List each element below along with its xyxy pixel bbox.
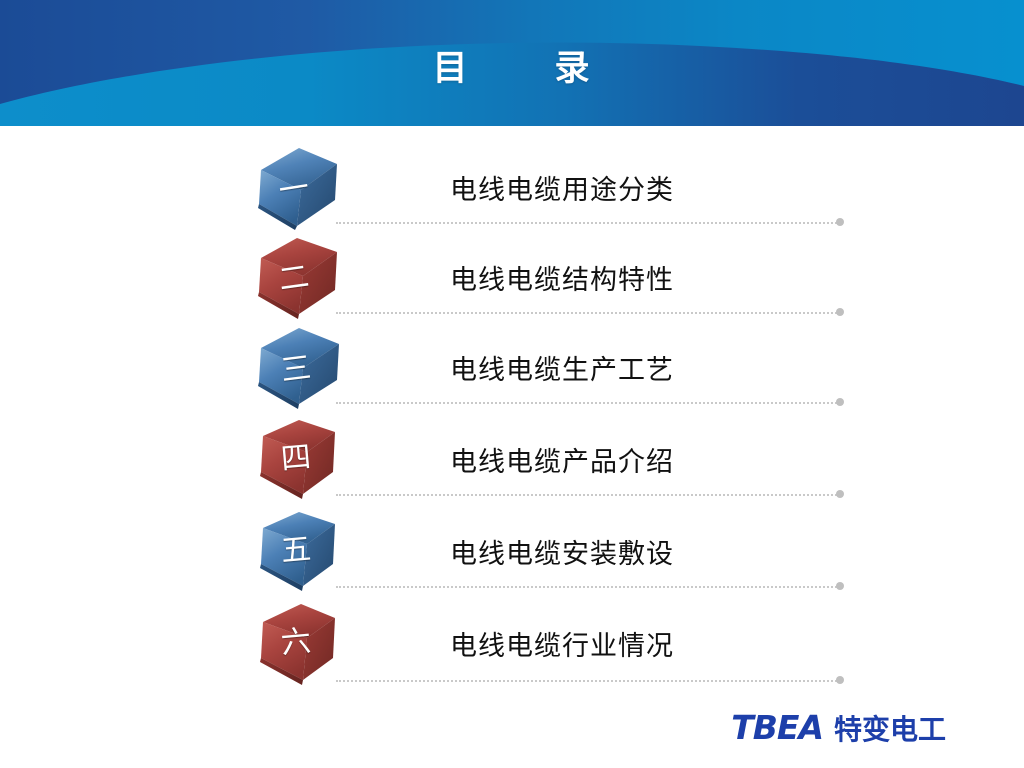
leader-end-dot bbox=[836, 308, 844, 316]
tbea-logo: TBEA 特变电工 bbox=[731, 711, 946, 744]
list-item[interactable]: 四 电线电缆产品介绍 bbox=[0, 410, 1024, 500]
list-item[interactable]: 二 电线电缆结构特性 bbox=[0, 230, 1024, 320]
cube-icon bbox=[253, 414, 357, 506]
leader-line bbox=[336, 586, 840, 588]
cube-icon bbox=[253, 506, 357, 598]
list-item-label: 电线电缆安装敷设 bbox=[450, 532, 674, 571]
leader-line bbox=[336, 680, 840, 682]
toc-list: 一 电线电缆用途分类 bbox=[0, 126, 1024, 701]
list-item-label: 电线电缆用途分类 bbox=[450, 168, 674, 207]
slide-canvas: 目 录 bbox=[0, 0, 1024, 768]
list-item-label: 电线电缆产品介绍 bbox=[450, 440, 674, 479]
leader-end-dot bbox=[836, 218, 844, 226]
leader-end-dot bbox=[836, 582, 844, 590]
list-item[interactable]: 五 电线电缆安装敷设 bbox=[0, 502, 1024, 592]
page-title: 目 录 bbox=[0, 40, 1024, 91]
cube-icon bbox=[253, 322, 357, 414]
cube-icon bbox=[253, 232, 357, 324]
list-item[interactable]: 六 电线电缆行业情况 bbox=[0, 594, 1024, 684]
cube-icon bbox=[253, 600, 357, 692]
leader-line bbox=[336, 494, 840, 496]
list-item[interactable]: 三 电线电缆生产工艺 bbox=[0, 320, 1024, 410]
leader-end-dot bbox=[836, 398, 844, 406]
list-item[interactable]: 一 电线电缆用途分类 bbox=[0, 140, 1024, 230]
header-banner: 目 录 bbox=[0, 0, 1024, 126]
leader-line bbox=[336, 402, 840, 404]
cube-icon bbox=[253, 142, 357, 234]
leader-end-dot bbox=[836, 490, 844, 498]
list-item-label: 电线电缆行业情况 bbox=[450, 624, 674, 663]
leader-line bbox=[336, 312, 840, 314]
logo-chinese-name: 特变电工 bbox=[834, 716, 946, 744]
leader-end-dot bbox=[836, 676, 844, 684]
leader-line bbox=[336, 222, 840, 224]
list-item-label: 电线电缆结构特性 bbox=[450, 258, 674, 297]
list-item-label: 电线电缆生产工艺 bbox=[450, 348, 674, 387]
logo-wordmark: TBEA bbox=[731, 711, 823, 744]
